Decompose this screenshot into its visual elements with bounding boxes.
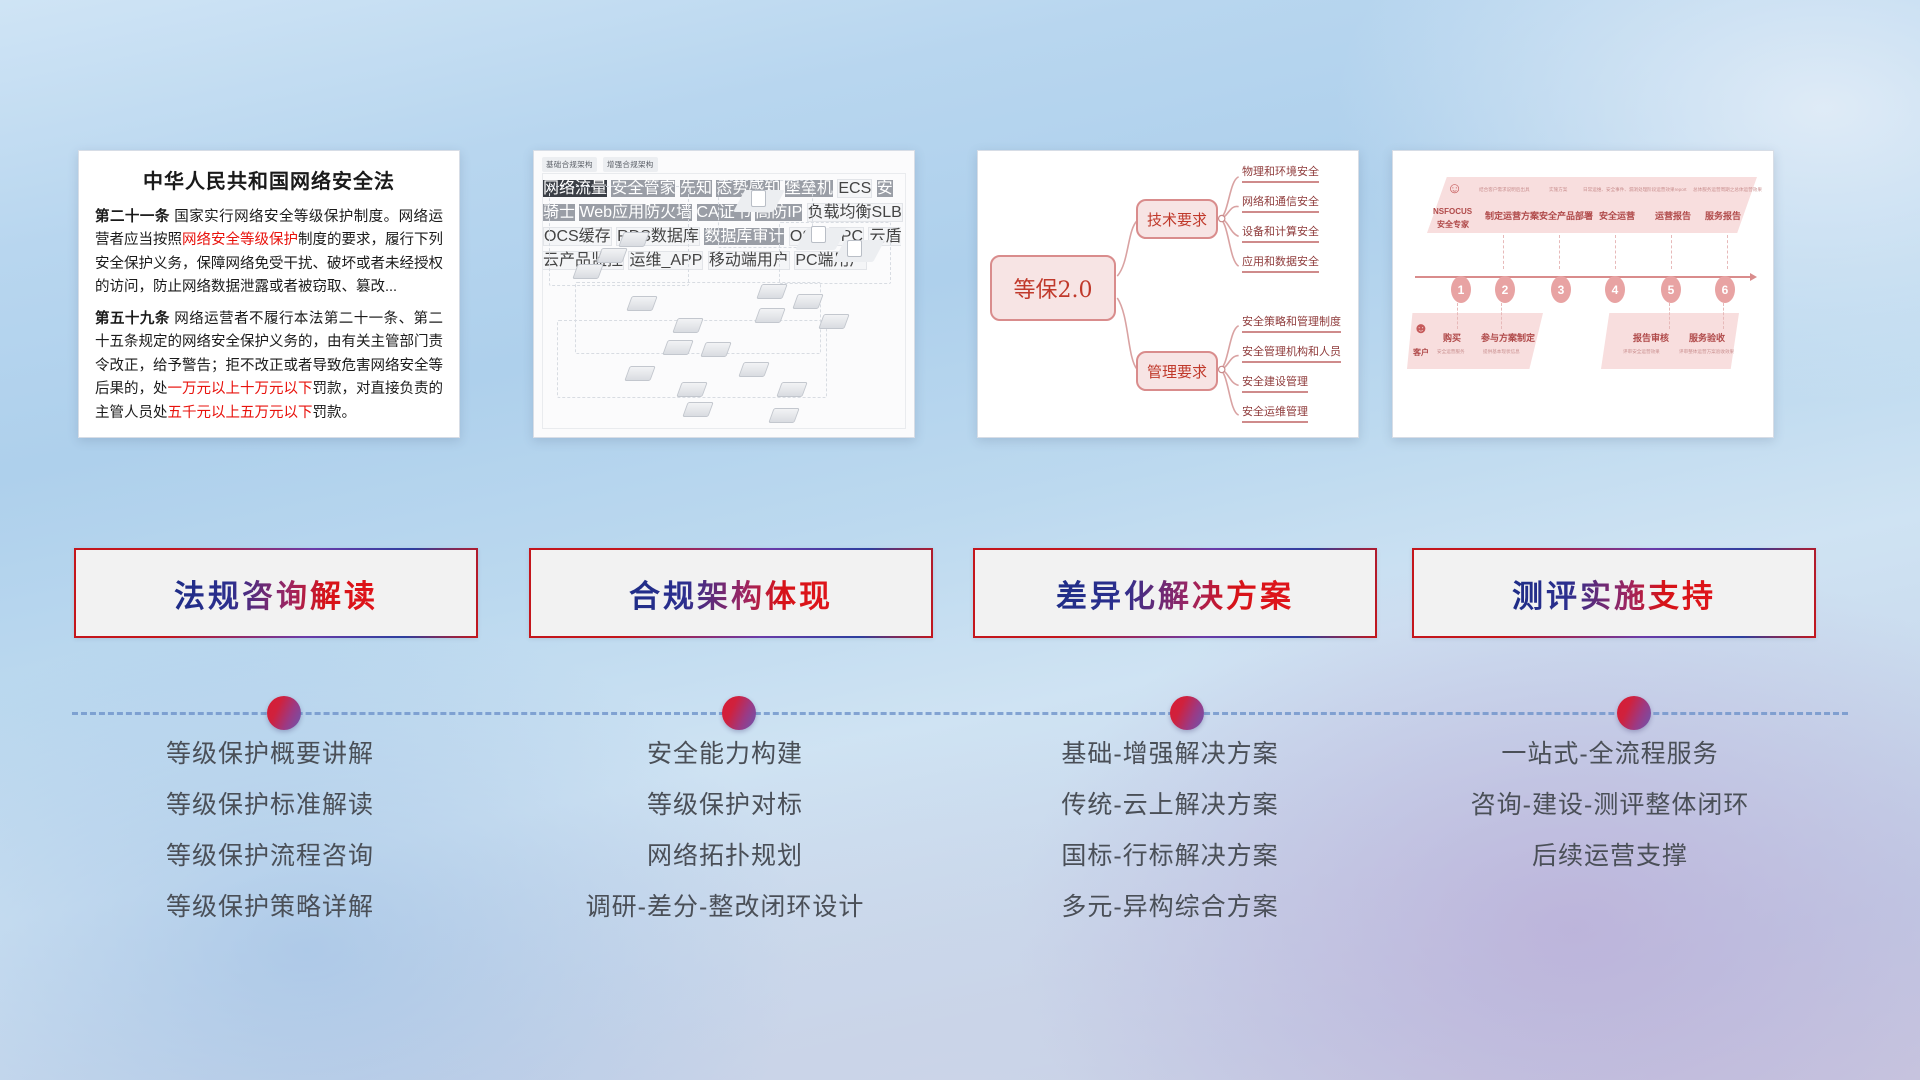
connector-dash [1727,235,1728,269]
flow-title: 安全运营 [1599,209,1635,222]
connector-dash [1723,303,1724,329]
node-xianzhi [599,248,625,263]
mindmap-leaf: 安全运维管理 [1242,403,1308,423]
title-box-compliance-architecture[interactable]: 合规架构体现 [529,548,933,638]
title-label: 合规架构体现 [629,571,833,616]
list-item: 等级保护策略详解 [60,895,480,920]
flow-sub: 提供基本现状信息 [1483,349,1520,355]
list-item: 传统-云上解决方案 [960,793,1380,818]
mindmap-leaf: 应用和数据安全 [1242,253,1319,273]
actor-expert-line1: NSFOCUS [1433,207,1472,216]
law-body: 中华人民共和国网络安全法 第二十一条 国家实行网络安全等级保护制度。网络运营者应… [79,151,459,438]
mindmap-diagram: 等保2.0 技术要求 管理要求 物理和环境安全 网络和通信安全 设备和计算安全 … [978,151,1358,437]
list-item: 等级保护对标 [515,793,935,818]
law-title: 中华人民共和国网络安全法 [95,165,443,194]
flow-sub: 安全运营服务 [1437,349,1465,355]
slide-canvas: 中华人民共和国网络安全法 第二十一条 国家实行网络安全等级保护制度。网络运营者应… [0,0,1920,1080]
flow-title: 运营报告 [1655,209,1691,222]
label-slb: 负载均衡SLB [807,203,903,222]
list-item: 等级保护概要讲解 [60,742,480,767]
monitor-icon [751,190,766,207]
flow-sub: 评审安全运营效果 [1623,349,1660,355]
title-label: 法规咨询解读 [174,571,378,616]
expert-avatar-icon: ☺ [1447,181,1462,196]
flow-sub: 日常运维、安全事件、漏洞处理 [1583,187,1647,193]
node-oss [779,382,805,397]
article-highlight-fine-2: 五千元以上五万元以下 [168,405,313,421]
mindmap-card[interactable]: 等保2.0 技术要求 管理要求 物理和环境安全 网络和通信安全 设备和计算安全 … [977,150,1359,438]
node-ecs [675,318,701,333]
band-expert [1427,177,1757,233]
law-article-21: 第二十一条 国家实行网络安全等级保护制度。网络运营者应当按照网络安全等级保护制度… [95,206,443,300]
article-highlight-fine-1: 一万元以上十万元以下 [168,381,313,397]
timeline-dot-4[interactable] [1617,696,1651,730]
list-item: 等级保护标准解读 [60,793,480,818]
list-item: 安全能力构建 [515,742,935,767]
node-ecs-3 [741,362,767,377]
list-item: 咨询-建设-测评整体闭环 [1400,793,1820,818]
architecture-diagram: 基础合规架构 增强合规架构 [534,151,914,437]
cybersecurity-law-card[interactable]: 中华人民共和国网络安全法 第二十一条 国家实行网络安全等级保护制度。网络运营者应… [78,150,460,438]
flow-title: 参与方案制定 [1481,331,1535,344]
actor-customer: 客户 [1413,347,1429,358]
connector-dash [1457,303,1458,329]
label-mobile-user: 移动端用户 [708,251,790,270]
node-security-butler [621,232,647,247]
node-anti-ddos-ip [821,314,847,329]
node-anqishi [665,340,691,355]
list-item: 国标-行标解决方案 [960,844,1380,869]
mindmap-leaf: 安全策略和管理制度 [1242,313,1341,333]
title-box-differentiated-solutions[interactable]: 差异化解决方案 [973,548,1377,638]
monitor-icon [811,226,826,243]
mindmap-leaf: 安全建设管理 [1242,373,1308,393]
flow-title: 服务报告 [1705,209,1741,222]
node-ocs-cache [627,366,653,381]
mindmap-leaf: 设备和计算安全 [1242,223,1319,243]
mindmap-root: 等保2.0 [990,255,1116,321]
list-item: 多元-异构综合方案 [960,895,1380,920]
node-waf [759,284,785,299]
node-ca-cert [795,294,821,309]
connector-dash [1669,303,1670,329]
label-ecs: ECS [837,179,872,198]
cloud-architecture-card[interactable]: 基础合规架构 增强合规架构 [533,150,915,438]
column-differentiated-solutions: 基础-增强解决方案 传统-云上解决方案 国标-行标解决方案 多元-异构综合方案 [960,742,1380,920]
timeline-dot-1[interactable] [267,696,301,730]
tab-enhanced-compliance[interactable]: 增强合规架构 [603,157,658,172]
flow-step: 6 [1715,276,1735,303]
screenshot-cards-row: 中华人民共和国网络安全法 第二十一条 国家实行网络安全等级保护制度。网络运营者应… [0,150,1920,445]
flow-step: 2 [1495,276,1515,303]
column-evaluation-support: 一站式-全流程服务 咨询-建设-测评整体闭环 后续运营支撑 [1400,742,1820,869]
flow-step: 4 [1605,276,1625,303]
architecture-tabs[interactable]: 基础合规架构 增强合规架构 [542,157,658,172]
list-item: 一站式-全流程服务 [1400,742,1820,767]
mindmap-branch-technical: 技术要求 [1136,199,1218,239]
flow-sub: 实施方案 [1549,187,1567,193]
architecture-canvas: 网络流量 安全管家 先知 态势感知 堡垒机 ECS 安骑士 Web应用防火墙 C… [542,173,906,429]
connector-dash [1501,303,1502,329]
column-compliance-architecture: 安全能力构建 等级保护对标 网络拓扑规划 调研-差分-整改闭环设计 [515,742,935,920]
flow-title: 安全产品部署 [1539,209,1593,222]
mindmap-branch-management: 管理要求 [1136,351,1218,391]
connector-dash [1503,235,1504,269]
node-ecs-2 [703,342,729,357]
timeline-dot-3[interactable] [1170,696,1204,730]
zone-security-ops [549,186,689,286]
mindmap-leaf: 物理和环境安全 [1242,163,1319,183]
service-flow-diagram: ☺ NSFOCUS 安全专家 结合客户需求说明后出具 制定运营方案 实施方案 安… [1393,151,1773,437]
flow-sub: 总体服务运营周期之总体运营效果 [1693,187,1762,193]
section-titles-row: 法规咨询解读 合规架构体现 差异化解决方案 测评实施支持 [0,548,1920,640]
connector-dash [1559,235,1560,269]
connector-dash [1671,235,1672,269]
law-article-59: 第五十九条 网络运营者不履行本法第二十一条、第二十五条规定的网络安全保护义务的，… [95,308,443,425]
monitor-icon [847,240,862,257]
flow-sub: 评审整体运营方案验收效果 [1679,349,1734,355]
list-item: 等级保护流程咨询 [60,844,480,869]
flow-title: 购买 [1443,331,1461,344]
timeline-dashed-line [72,712,1848,715]
flow-title: 服务验收 [1689,331,1725,344]
title-box-regulation-consulting[interactable]: 法规咨询解读 [74,548,478,638]
service-flow-card[interactable]: ☺ NSFOCUS 安全专家 结合客户需求说明后出具 制定运营方案 实施方案 安… [1392,150,1774,438]
connector-dash [1615,235,1616,269]
flow-sub: 阶段运营效果report [1647,187,1687,193]
mindmap-leaf: 安全管理机构和人员 [1242,343,1341,363]
flow-title: 制定运营方案 [1485,209,1539,222]
flow-title: 报告审核 [1633,331,1669,344]
article-number: 第五十九条 [95,311,170,327]
flow-step: 5 [1661,276,1681,303]
list-item: 调研-差分-整改闭环设计 [515,895,935,920]
flow-step: 3 [1551,276,1571,303]
article-number: 第二十一条 [95,209,170,225]
title-label: 差异化解决方案 [1056,571,1294,616]
list-item: 网络拓扑规划 [515,844,935,869]
list-item: 基础-增强解决方案 [960,742,1380,767]
node-vpc [771,408,797,423]
flow-sub: 结合客户需求说明后出具 [1479,187,1530,193]
list-item: 后续运营支撑 [1400,844,1820,869]
tab-basic-compliance[interactable]: 基础合规架构 [542,157,597,172]
article-tail: 罚款。 [313,405,357,421]
mindmap-leaf: 网络和通信安全 [1242,193,1319,213]
node-db-audit [685,402,711,417]
node-bastion-host [629,296,655,311]
title-box-evaluation-support[interactable]: 测评实施支持 [1412,548,1816,638]
title-label: 测评实施支持 [1512,571,1716,616]
node-rds [679,382,705,397]
node-situation-awareness [575,264,601,279]
actor-expert-line2: 安全专家 [1437,219,1469,230]
node-slb [757,308,783,323]
article-highlight: 网络安全等级保护 [182,232,298,248]
column-regulation-consulting: 等级保护概要讲解 等级保护标准解读 等级保护流程咨询 等级保护策略详解 [60,742,480,920]
flow-step: 1 [1451,276,1471,303]
timeline-dot-2[interactable] [722,696,756,730]
timeline [72,693,1848,733]
customer-avatar-icon: ☻ [1413,321,1429,336]
